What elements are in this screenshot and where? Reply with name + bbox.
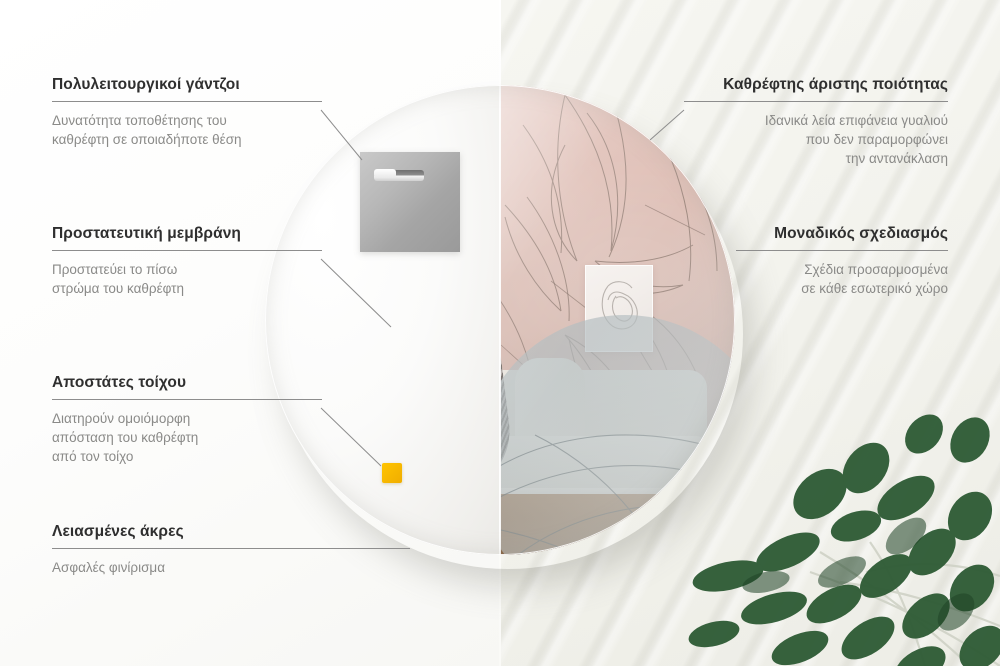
- foliage-decoration: [670, 376, 1000, 666]
- callout-rule: [684, 101, 948, 102]
- callout-unique-design: Μοναδικός σχεδιασμός Σχέδια προσαρμοσμέν…: [736, 225, 948, 298]
- mirror-split-line: [499, 85, 501, 555]
- yellow-wall-spacer-part: [382, 463, 402, 483]
- callout-description: Προστατεύει το πίσω στρώμα του καθρέφτη: [52, 260, 322, 298]
- callout-rule: [52, 548, 410, 549]
- callout-rule: [52, 101, 322, 102]
- callout-description: Ιδανικά λεία επιφάνεια γυαλιού που δεν π…: [684, 111, 948, 168]
- callout-multifunctional-hooks: Πολυλειτουργικοί γάντζοι Δυνατότητα τοπο…: [52, 76, 322, 149]
- callout-title: Λειασμένες άκρες: [52, 523, 410, 541]
- callout-rule: [736, 250, 948, 251]
- infographic-canvas: Πολυλειτουργικοί γάντζοι Δυνατότητα τοπο…: [0, 0, 1000, 666]
- hook-bracket-part: [360, 152, 460, 252]
- bracket-slot-highlight: [374, 169, 396, 178]
- callout-title: Πολυλειτουργικοί γάντζοι: [52, 76, 322, 94]
- callout-rule: [52, 399, 322, 400]
- mirror-product: [265, 85, 735, 555]
- callout-description: Ασφαλές φινίρισμα: [52, 558, 410, 577]
- callout-rule: [52, 250, 322, 251]
- callout-description: Σχέδια προσαρμοσμένα σε κάθε εσωτερικό χ…: [736, 260, 948, 298]
- callout-protective-membrane: Προστατευτική μεμβράνη Προστατεύει το πί…: [52, 225, 322, 298]
- callout-top-quality-mirror: Καθρέφτης άριστης ποιότητας Ιδανικά λεία…: [684, 76, 948, 168]
- callout-title: Καθρέφτης άριστης ποιότητας: [684, 76, 948, 94]
- callout-wall-spacers: Αποστάτες τοίχου Διατηρούν ομοιόμορφη απ…: [52, 374, 322, 466]
- mirror-body: [265, 85, 735, 555]
- callout-description: Δυνατότητα τοποθέτησης του καθρέφτη σε ο…: [52, 111, 322, 149]
- callout-title: Προστατευτική μεμβράνη: [52, 225, 322, 243]
- callout-smoothed-edges: Λειασμένες άκρες Ασφαλές φινίρισμα: [52, 523, 410, 577]
- callout-description: Διατηρούν ομοιόμορφη απόσταση του καθρέφ…: [52, 409, 322, 466]
- callout-title: Αποστάτες τοίχου: [52, 374, 322, 392]
- callout-title: Μοναδικός σχεδιασμός: [736, 225, 948, 243]
